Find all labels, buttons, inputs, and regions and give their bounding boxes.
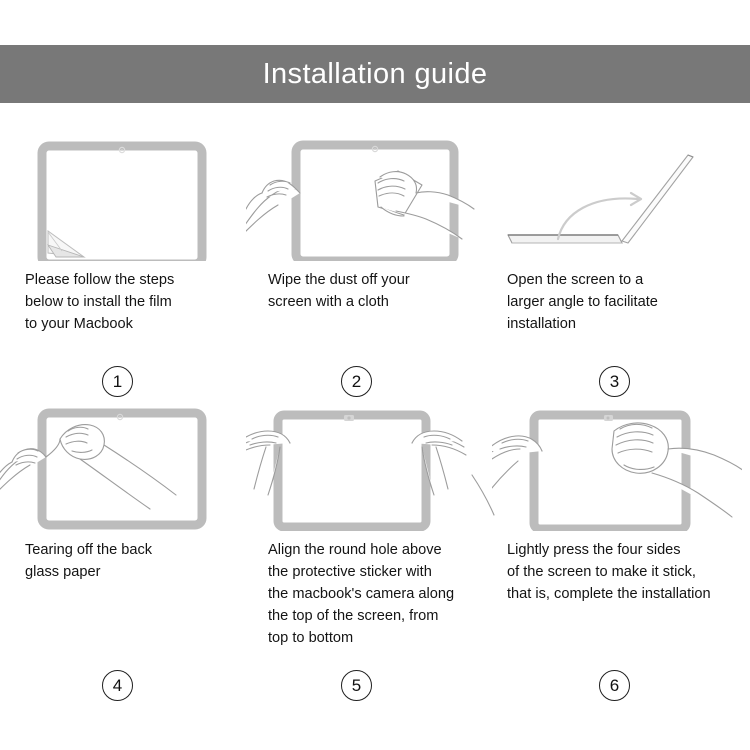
step-card-2: Wipe the dust off your screen with a clo…: [246, 133, 496, 313]
step-6-caption: Lightly press the four sides of the scre…: [492, 539, 742, 605]
step-number-4: 4: [102, 670, 133, 701]
step-3-illustration: [492, 133, 742, 261]
step-number-badge-3: 3: [599, 366, 628, 395]
step-card-4: Tearing off the back glass paper: [0, 403, 250, 583]
step-number-6: 6: [599, 670, 630, 701]
step-1-illustration: [0, 133, 250, 261]
step-4-illustration: [0, 403, 250, 531]
step-number-2: 2: [341, 366, 372, 397]
step-card-5: Align the round hole above the protectiv…: [246, 403, 496, 649]
step-number-badge-6: 6: [599, 670, 628, 699]
step-5-illustration: [246, 403, 496, 531]
step-number-1: 1: [102, 366, 133, 397]
step-5-caption: Align the round hole above the protectiv…: [246, 539, 496, 649]
step-number-3: 3: [599, 366, 630, 397]
step-number-5: 5: [341, 670, 372, 701]
step-4-caption: Tearing off the back glass paper: [0, 539, 250, 583]
step-number-badge-2: 2: [341, 366, 370, 395]
step-2-caption: Wipe the dust off your screen with a clo…: [246, 269, 496, 313]
step-card-1: Please follow the steps below to install…: [0, 133, 250, 335]
step-card-3: Open the screen to a larger angle to fac…: [492, 133, 742, 335]
header-bar: Installation guide: [0, 45, 750, 103]
page-title: Installation guide: [263, 60, 488, 89]
step-6-illustration: [492, 403, 742, 531]
step-1-caption: Please follow the steps below to install…: [0, 269, 250, 335]
step-number-badge-5: 5: [341, 670, 370, 699]
step-number-badge-1: 1: [102, 366, 131, 395]
step-2-illustration: [246, 133, 496, 261]
step-number-badge-4: 4: [102, 670, 131, 699]
step-3-caption: Open the screen to a larger angle to fac…: [492, 269, 742, 335]
steps-grid: Please follow the steps below to install…: [0, 103, 750, 750]
step-card-6: Lightly press the four sides of the scre…: [492, 403, 742, 605]
